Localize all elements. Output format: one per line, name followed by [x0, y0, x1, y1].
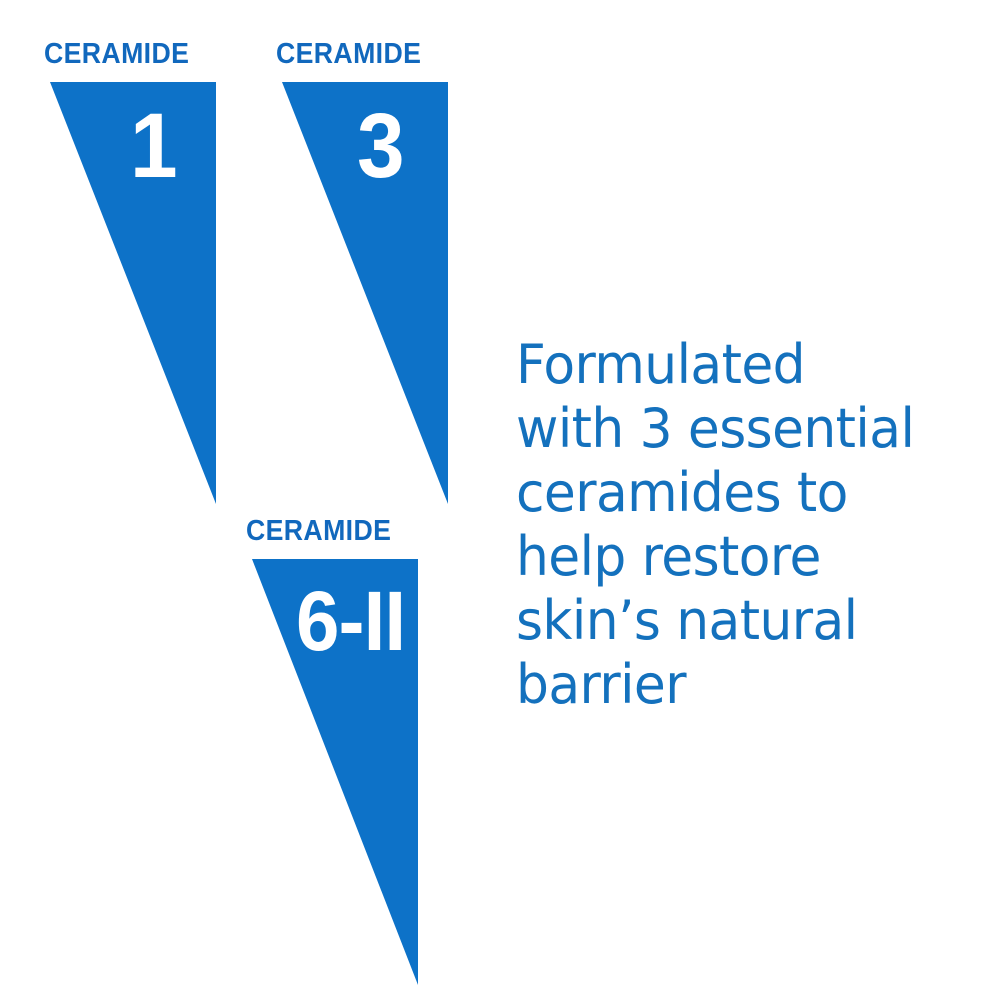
copy-line-4: help restore — [516, 525, 938, 589]
promo-graphic: CERAMIDE 1 CERAMIDE 3 CERAMIDE 6-II Form… — [0, 0, 1000, 1000]
copy-line-5: skin’s natural — [516, 589, 938, 653]
ceramide-number-2: 3 — [357, 100, 404, 192]
copy-line-3: ceramides to — [516, 461, 938, 525]
ceramide-label-2: CERAMIDE — [276, 40, 421, 69]
body-copy: Formulated with 3 essential ceramides to… — [516, 333, 956, 717]
ceramide-number-1: 1 — [130, 100, 177, 192]
ceramide-label-3: CERAMIDE — [246, 517, 391, 546]
ceramide-label-1: CERAMIDE — [44, 40, 189, 69]
copy-line-1: Formulated — [516, 333, 938, 397]
ceramide-number-3: 6-II — [296, 579, 405, 663]
copy-line-2: with 3 essential — [516, 397, 938, 461]
copy-line-6: barrier — [516, 653, 938, 717]
